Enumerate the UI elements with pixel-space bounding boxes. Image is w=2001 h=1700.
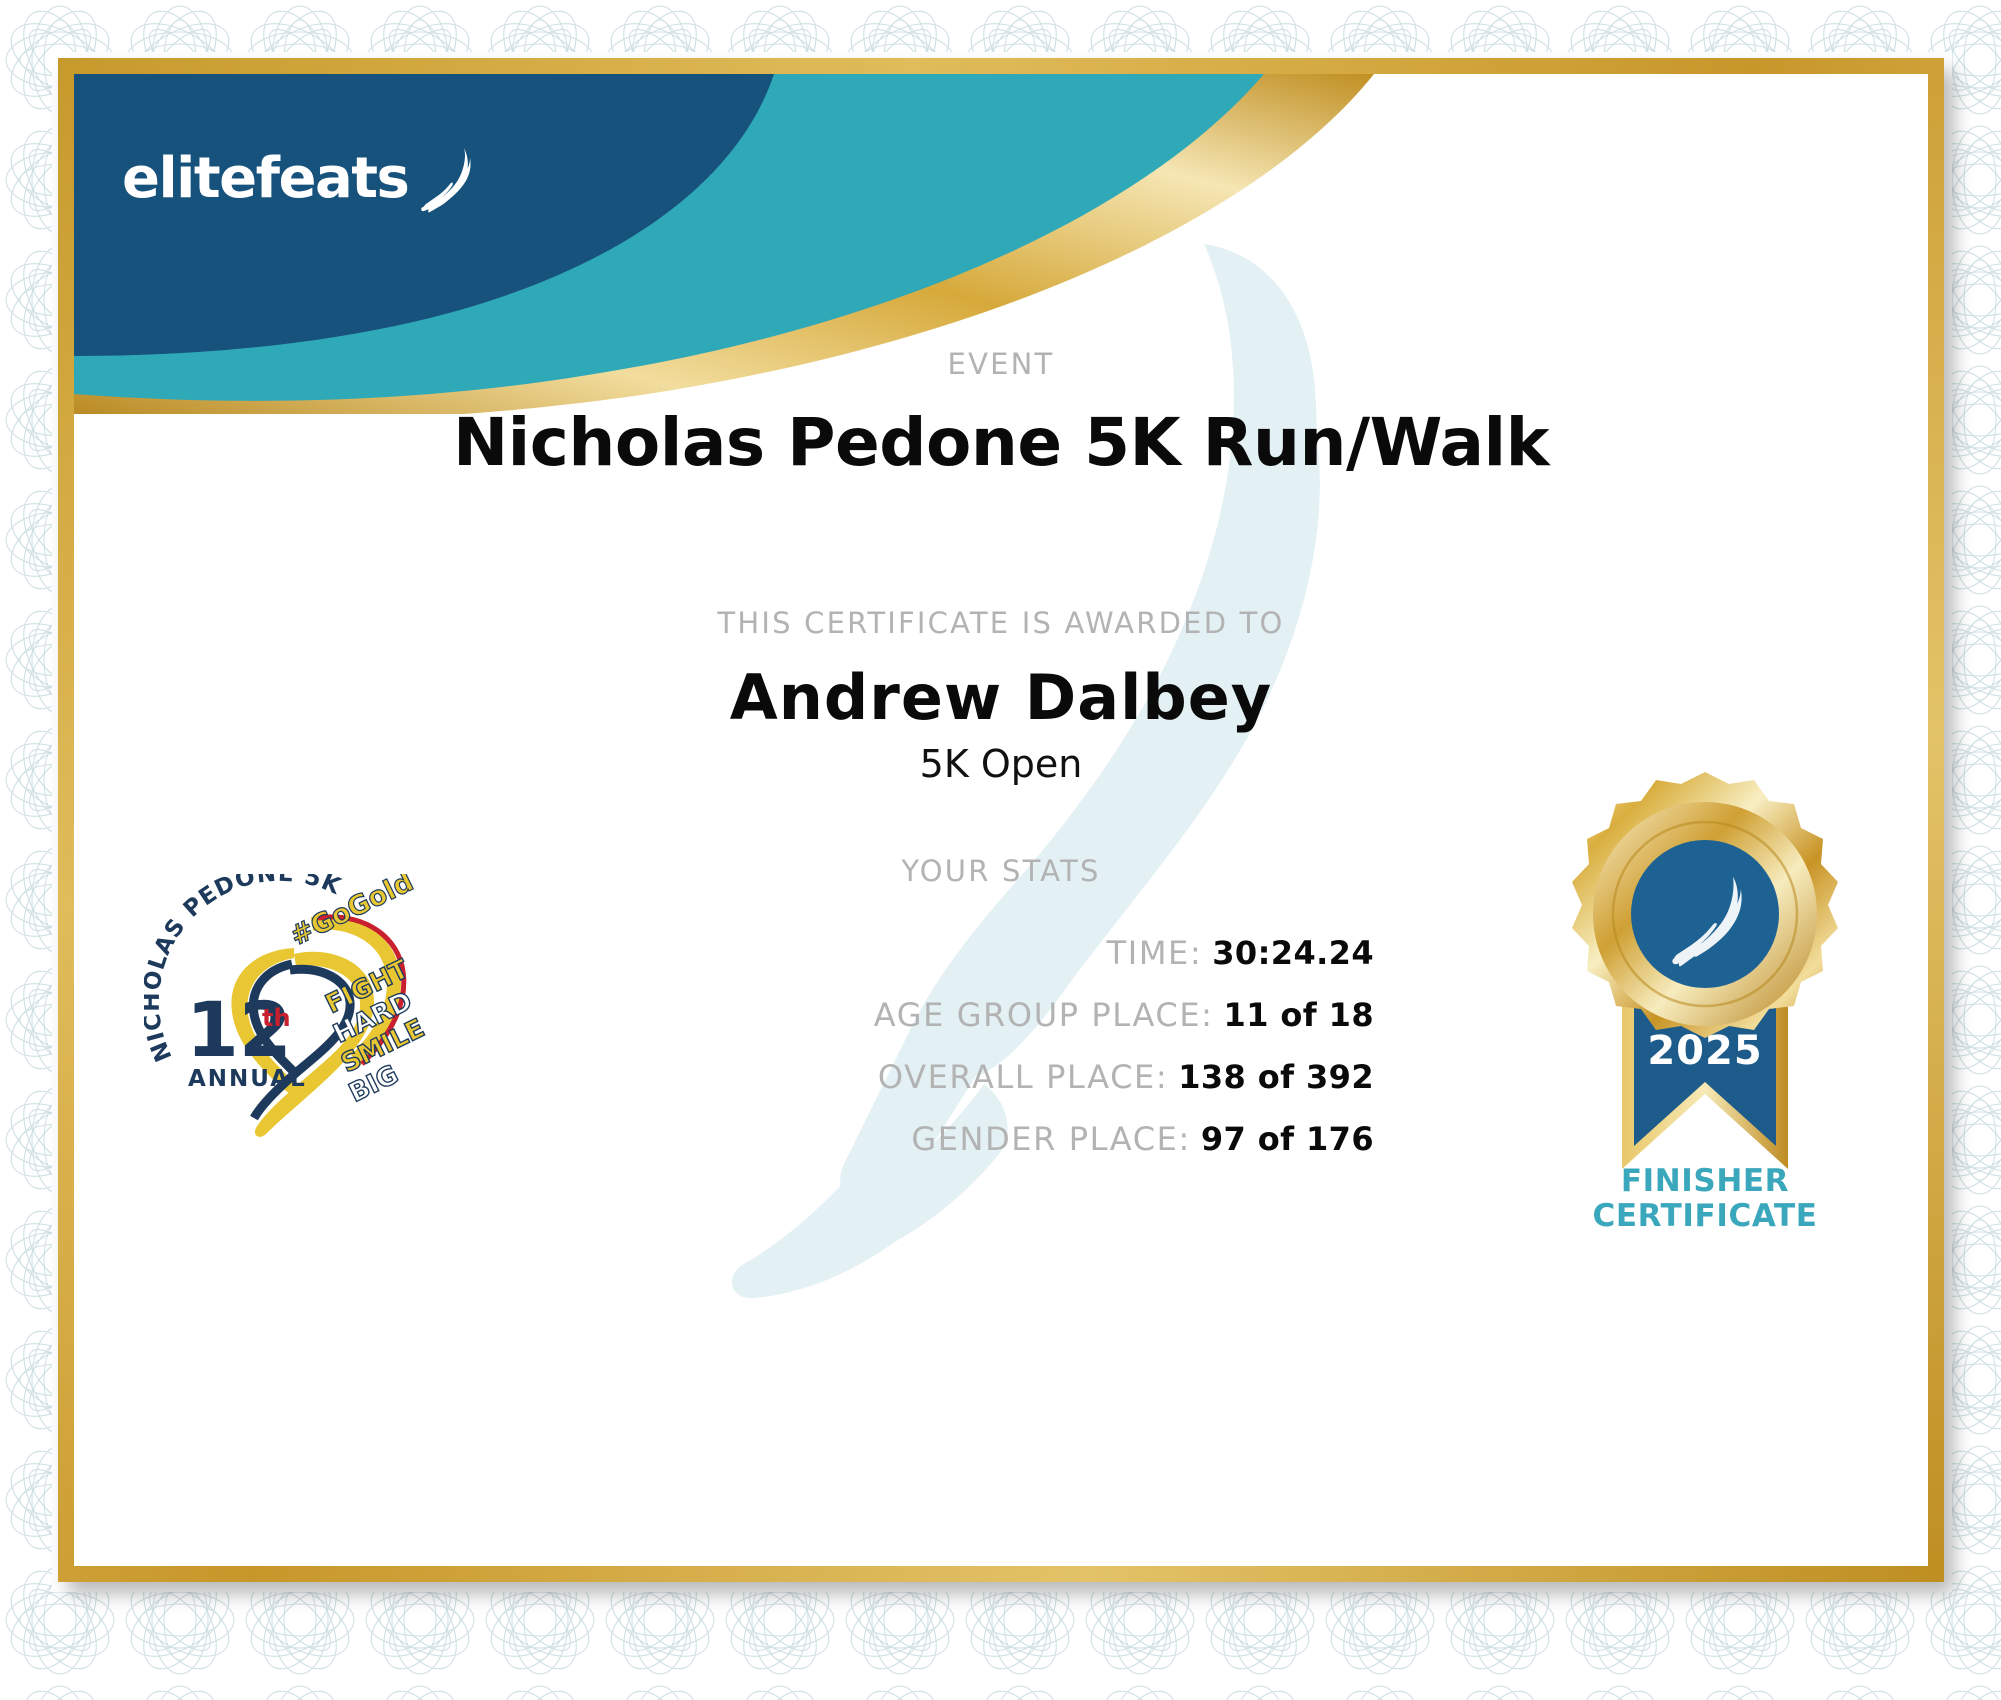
stat-row: OVERALL PLACE: 138 of 392 [374, 1058, 1374, 1096]
winged-foot-icon [414, 142, 488, 216]
stat-row: GENDER PLACE: 97 of 176 [374, 1120, 1374, 1158]
race-logo-ordinal: th [262, 1004, 291, 1032]
awarded-to-label: THIS CERTIFICATE IS AWARDED TO [74, 606, 1928, 640]
stat-value: 30:24.24 [1212, 934, 1374, 972]
badge-caption-line1: FINISHER [1560, 1164, 1850, 1199]
certificate-canvas: elitefeats EVENT Nicholas Pedone 5K Run/… [74, 74, 1928, 1566]
stat-label: TIME: [1107, 934, 1203, 972]
certificate-sheet: elitefeats EVENT Nicholas Pedone 5K Run/… [0, 0, 2001, 1700]
stat-row: TIME: 30:24.24 [374, 934, 1374, 972]
stat-label: GENDER PLACE: [911, 1120, 1191, 1158]
race-event-logo: NICHOLAS PEDONE 5K 12 th ANNUAL #GoGold [144, 874, 444, 1154]
badge-caption-line2: CERTIFICATE [1560, 1199, 1850, 1234]
event-label: EVENT [74, 347, 1928, 381]
recipient-name: Andrew Dalbey [74, 661, 1928, 734]
stat-value: 138 of 392 [1178, 1058, 1374, 1096]
stat-value: 11 of 18 [1224, 996, 1374, 1034]
badge-caption: FINISHER CERTIFICATE [1560, 1164, 1850, 1233]
race-logo-annual: ANNUAL [188, 1066, 307, 1092]
elitefeats-logo-text: elitefeats [122, 151, 408, 207]
stat-value: 97 of 176 [1201, 1120, 1374, 1158]
elitefeats-logo: elitefeats [122, 142, 488, 216]
event-name: Nicholas Pedone 5K Run/Walk [74, 404, 1928, 481]
stat-label: AGE GROUP PLACE: [874, 996, 1214, 1034]
stat-label: OVERALL PLACE: [878, 1058, 1168, 1096]
gold-frame: elitefeats EVENT Nicholas Pedone 5K Run/… [58, 58, 1944, 1582]
stat-row: AGE GROUP PLACE: 11 of 18 [374, 996, 1374, 1034]
badge-year: 2025 [1647, 1028, 1762, 1074]
stats-list: TIME: 30:24.24 AGE GROUP PLACE: 11 of 18… [374, 934, 1374, 1182]
